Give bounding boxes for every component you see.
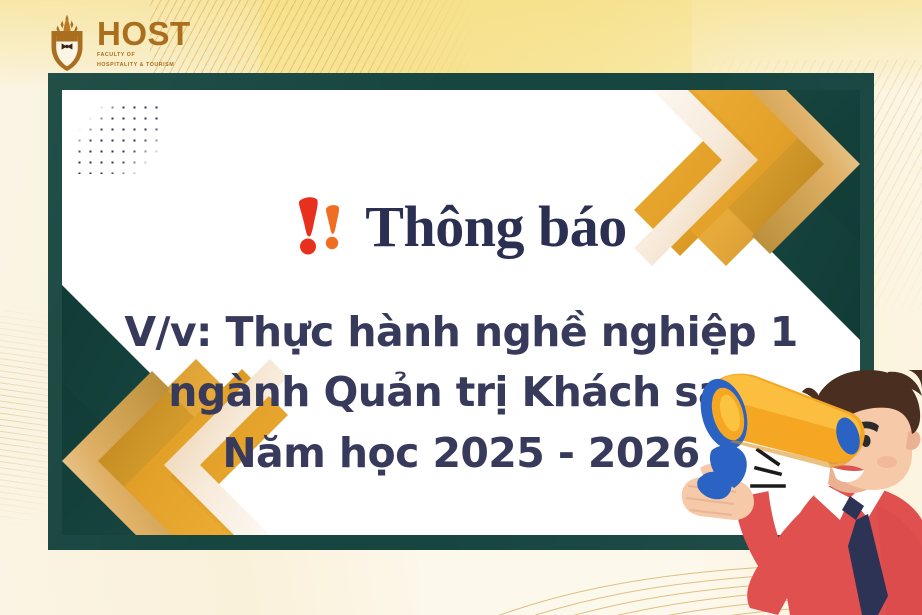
shield-crest-icon <box>44 14 90 72</box>
announcement-body: V/v: Thực hành nghề nghiệp 1 ngành Quản … <box>62 302 860 483</box>
double-exclamation-icon <box>295 195 351 259</box>
body-line-2: ngành Quản trị Khách sạn <box>62 362 860 422</box>
headline-text: Thông báo <box>365 198 626 256</box>
logo-subtitle-line2: HOSPITALITY & TOURISM <box>97 62 191 70</box>
dot-grid-pattern-icon <box>74 102 166 174</box>
announcement-poster: HOST FACULTY OF HOSPITALITY & TOURISM Th… <box>0 0 922 615</box>
brand-logo[interactable]: HOST FACULTY OF HOSPITALITY & TOURISM <box>44 14 191 72</box>
headline-row: Thông báo <box>62 195 860 259</box>
logo-text-block: HOST FACULTY OF HOSPITALITY & TOURISM <box>97 17 191 69</box>
content-card: Thông báo V/v: Thực hành nghề nghiệp 1 n… <box>62 90 860 535</box>
logo-subtitle-line1: FACULTY OF <box>97 52 191 60</box>
body-line-1: V/v: Thực hành nghề nghiệp 1 <box>62 302 860 362</box>
body-line-3: Năm học 2025 - 2026 <box>62 423 860 483</box>
logo-wordmark: HOST <box>97 17 191 50</box>
